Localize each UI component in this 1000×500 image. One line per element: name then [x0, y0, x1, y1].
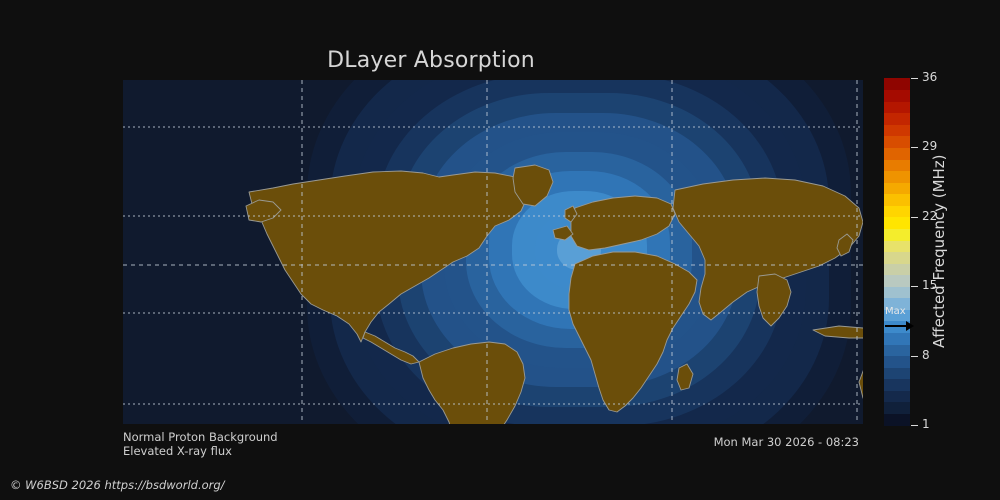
colorbar-segment: [884, 413, 910, 425]
graticule-layer: [123, 80, 863, 424]
colorbar-tick: [911, 425, 918, 426]
colorbar: 1815222936: [884, 78, 910, 425]
colorbar-segment: [884, 402, 910, 414]
colorbar-tick: [911, 147, 918, 148]
colorbar-segment: [884, 356, 910, 368]
colorbar-segment: [884, 101, 910, 113]
colorbar-segment: [884, 194, 910, 206]
colorbar-tick: [911, 217, 918, 218]
colorbar-segment: [884, 90, 910, 102]
colorbar-segment: [884, 332, 910, 344]
colorbar-segment: [884, 228, 910, 240]
colorbar-segment: [884, 171, 910, 183]
colorbar-segment: [884, 390, 910, 402]
colorbar-segment: [884, 275, 910, 287]
page-title: DLayer Absorption: [0, 48, 862, 73]
colorbar-segment: [884, 147, 910, 159]
colorbar-segment: [884, 136, 910, 148]
colorbar-segment: [884, 217, 910, 229]
colorbar-segment: [884, 205, 910, 217]
colorbar-segment: [884, 286, 910, 298]
colorbar-segment: [884, 344, 910, 356]
colorbar-axis-title: Affected Frequency (MHz): [929, 78, 949, 425]
map-panel[interactable]: [123, 80, 863, 424]
colorbar-segment: [884, 182, 910, 194]
colorbar-tick: [911, 356, 918, 357]
copyright-notice: © W6BSD 2026 https://bsdworld.org/: [10, 478, 225, 492]
colorbar-segment: [884, 78, 910, 90]
colorbar-tick: [911, 286, 918, 287]
colorbar-segment: [884, 113, 910, 125]
colorbar-gradient: [884, 78, 910, 425]
colorbar-max-label: Max: [885, 306, 906, 317]
colorbar-max-arrow-icon: [884, 320, 914, 332]
colorbar-segment: [884, 263, 910, 275]
colorbar-segment: [884, 159, 910, 171]
colorbar-segment: [884, 124, 910, 136]
colorbar-segment: [884, 252, 910, 264]
colorbar-segment: [884, 379, 910, 391]
colorbar-segment: [884, 367, 910, 379]
colorbar-segment: [884, 240, 910, 252]
dlayer-absorption-screen: DLayer Absorption: [0, 0, 1000, 500]
timestamp: Mon Mar 30 2026 - 08:23: [0, 435, 862, 449]
colorbar-tick: [911, 78, 918, 79]
